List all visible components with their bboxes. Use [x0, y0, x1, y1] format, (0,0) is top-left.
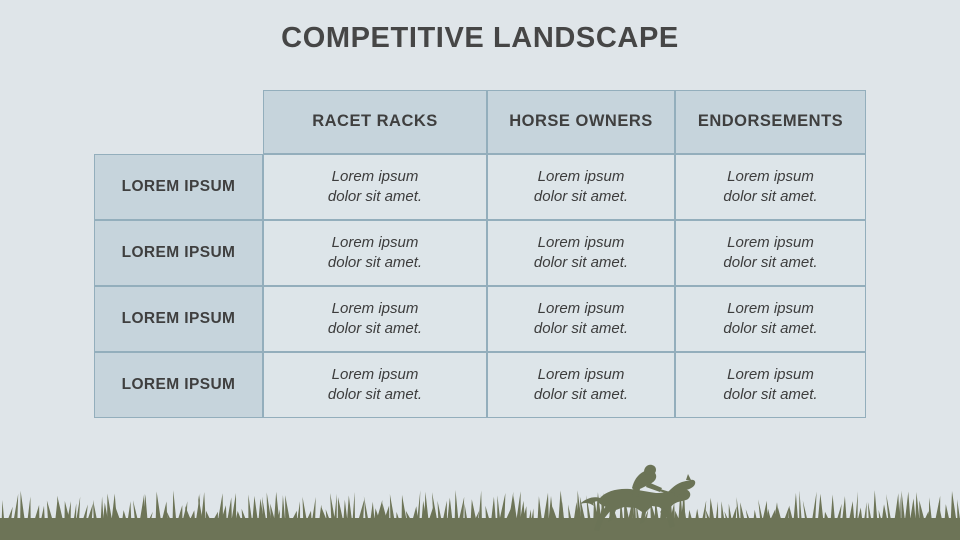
table-cell-r4c1: Lorem ipsum dolor sit amet. [263, 352, 487, 418]
grass-icon [0, 470, 960, 540]
cell-text-line2: dolor sit amet. [328, 385, 422, 405]
cell-text-line1: Lorem ipsum [727, 366, 814, 383]
column-header-horse-owners: HORSE OWNERS [487, 90, 675, 154]
table-cell-r1c3: Lorem ipsum dolor sit amet. [675, 154, 866, 220]
table-cell-r4c3: Lorem ipsum dolor sit amet. [675, 352, 866, 418]
row-header-2: LOREM IPSUM [94, 220, 263, 286]
column-header-endorsements: ENDORSEMENTS [675, 90, 866, 154]
table-cell-r4c2: Lorem ipsum dolor sit amet. [487, 352, 675, 418]
cell-text-line2: dolor sit amet. [328, 187, 422, 207]
table-corner-cell [94, 90, 263, 154]
table-cell-r2c2: Lorem ipsum dolor sit amet. [487, 220, 675, 286]
table-cell-r3c1: Lorem ipsum dolor sit amet. [263, 286, 487, 352]
cell-text-line2: dolor sit amet. [723, 187, 817, 207]
cell-text-line1: Lorem ipsum [538, 168, 625, 185]
cell-text-line2: dolor sit amet. [723, 253, 817, 273]
cell-text-line2: dolor sit amet. [534, 319, 628, 339]
table-cell-r2c3: Lorem ipsum dolor sit amet. [675, 220, 866, 286]
cell-text-line1: Lorem ipsum [727, 168, 814, 185]
cell-text-line2: dolor sit amet. [534, 187, 628, 207]
row-header-3: LOREM IPSUM [94, 286, 263, 352]
cell-text-line1: Lorem ipsum [332, 234, 419, 251]
table-cell-r3c2: Lorem ipsum dolor sit amet. [487, 286, 675, 352]
column-header-racet-racks: RACET RACKS [263, 90, 487, 154]
cell-text-line1: Lorem ipsum [727, 234, 814, 251]
row-header-4: LOREM IPSUM [94, 352, 263, 418]
cell-text-line2: dolor sit amet. [328, 253, 422, 273]
cell-text-line1: Lorem ipsum [332, 168, 419, 185]
table-cell-r1c2: Lorem ipsum dolor sit amet. [487, 154, 675, 220]
page-title: COMPETITIVE LANDSCAPE [0, 22, 960, 55]
slide-canvas: COMPETITIVE LANDSCAPE RACET RACKS HORSE … [0, 0, 960, 540]
cell-text-line2: dolor sit amet. [723, 385, 817, 405]
cell-text-line2: dolor sit amet. [534, 253, 628, 273]
cell-text-line1: Lorem ipsum [538, 234, 625, 251]
cell-text-line2: dolor sit amet. [534, 385, 628, 405]
cell-text-line1: Lorem ipsum [727, 300, 814, 317]
table-cell-r1c1: Lorem ipsum dolor sit amet. [263, 154, 487, 220]
cell-text-line2: dolor sit amet. [723, 319, 817, 339]
cell-text-line1: Lorem ipsum [332, 366, 419, 383]
horse-and-jockey-icon [576, 462, 696, 540]
table-cell-r2c1: Lorem ipsum dolor sit amet. [263, 220, 487, 286]
cell-text-line1: Lorem ipsum [538, 366, 625, 383]
cell-text-line1: Lorem ipsum [332, 300, 419, 317]
table-cell-r3c3: Lorem ipsum dolor sit amet. [675, 286, 866, 352]
cell-text-line1: Lorem ipsum [538, 300, 625, 317]
cell-text-line2: dolor sit amet. [328, 319, 422, 339]
row-header-1: LOREM IPSUM [94, 154, 263, 220]
comparison-table: RACET RACKS HORSE OWNERS ENDORSEMENTS LO… [94, 90, 866, 420]
